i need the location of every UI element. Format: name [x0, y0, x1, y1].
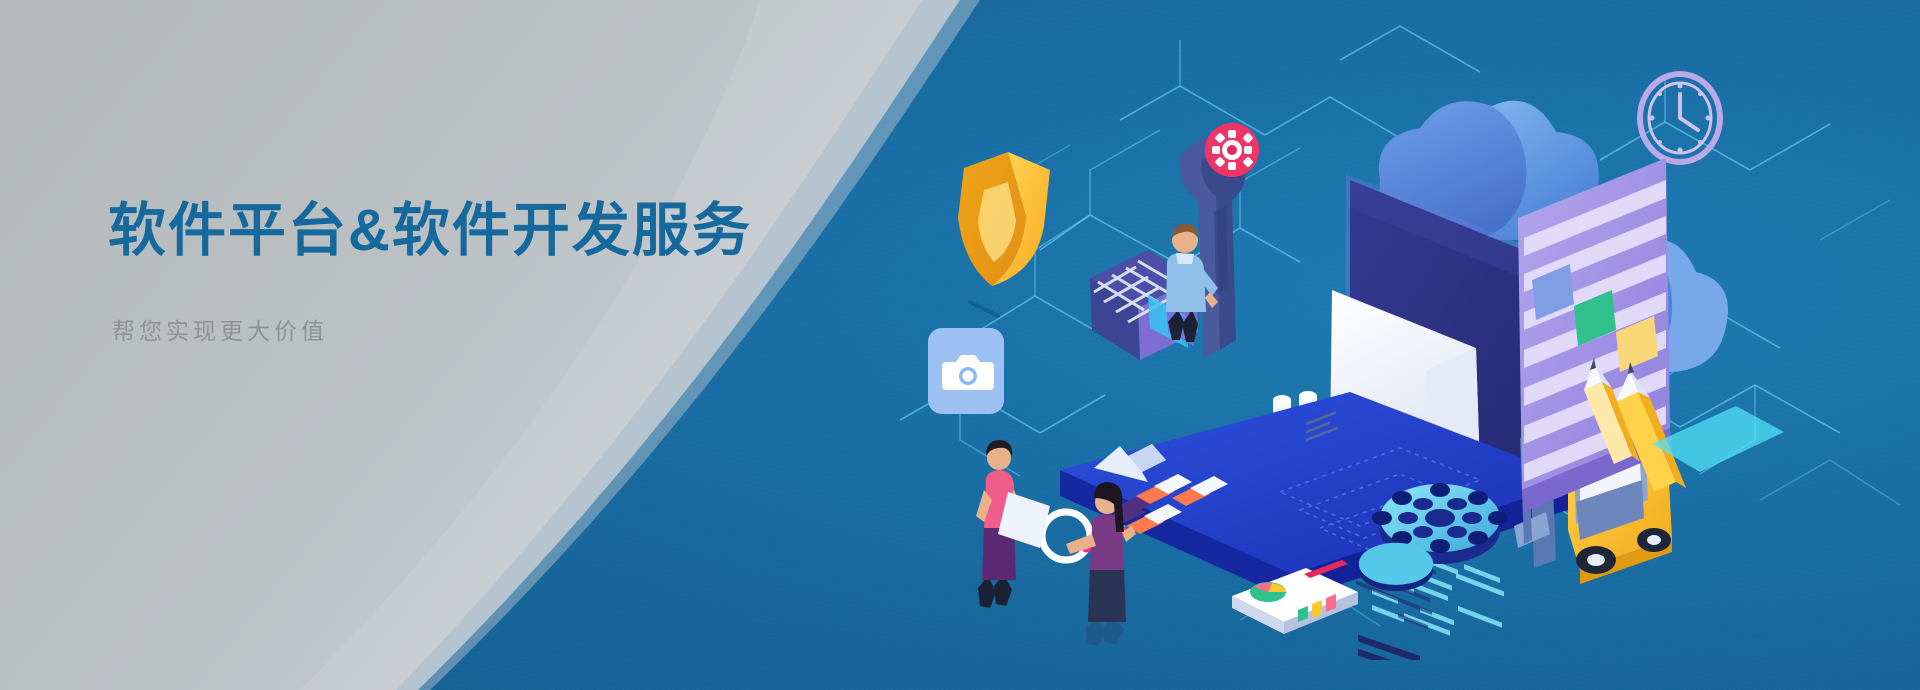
hero-text-block: 软件平台&软件开发服务 帮您实现更大价值 — [108, 198, 808, 346]
page-subtitle: 帮您实现更大价值 — [112, 312, 808, 346]
page-title: 软件平台&软件开发服务 — [108, 198, 808, 264]
gear-badge-icon — [1205, 123, 1259, 177]
hero-banner: NEWS — [0, 0, 1920, 690]
clock-icon — [1640, 74, 1720, 162]
